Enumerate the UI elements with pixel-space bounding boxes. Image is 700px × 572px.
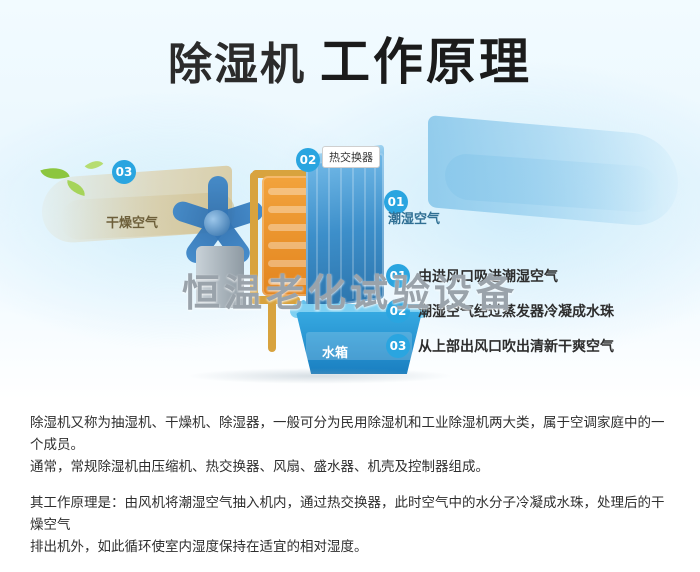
badge-03-illustration: 03: [112, 160, 136, 184]
paragraph-2: 其工作原理是：由风机将潮湿空气抽入机内，通过热交换器，此时空气中的水分子冷凝成水…: [30, 492, 674, 558]
paragraph-1-line-2: 通常，常规除湿机由压缩机、热交换器、风扇、盛水器、机壳及控制器组成。: [30, 456, 674, 478]
step-text: 由进风口吸进潮湿空气: [418, 266, 558, 286]
label-humid-air: 潮湿空气: [388, 208, 440, 227]
illustration-panel: 除湿机工作原理: [0, 0, 700, 400]
body-copy: 除湿机又称为抽湿机、干燥机、除湿器，一般可分为民用除湿机和工业除湿机两大类，属于…: [30, 412, 674, 572]
step-number: 02: [386, 299, 410, 323]
paragraph-1: 除湿机又称为抽湿机、干燥机、除湿器，一般可分为民用除湿机和工业除湿机两大类，属于…: [30, 412, 674, 478]
label-heat-exchanger: 热交换器: [322, 146, 380, 168]
list-item: 01 由进风口吸进潮湿空气: [386, 264, 686, 288]
paragraph-1-line-1: 除湿机又称为抽湿机、干燥机、除湿器，一般可分为民用除湿机和工业除湿机两大类，属于…: [30, 412, 674, 456]
machine-base-shadow: [186, 368, 454, 384]
label-water-tank: 水箱: [322, 342, 348, 361]
page-root: 除湿机工作原理: [0, 0, 700, 566]
steps-list: 01 由进风口吸进潮湿空气 02 潮湿空气经过蒸发器冷凝成水珠 03 从上部出风…: [386, 264, 686, 369]
badge-02-illustration: 02: [296, 148, 320, 172]
title-part-one: 除湿机: [168, 39, 306, 90]
paragraph-2-line-1: 其工作原理是：由风机将潮湿空气抽入机内，通过热交换器，此时空气中的水分子冷凝成水…: [30, 492, 674, 536]
step-text: 潮湿空气经过蒸发器冷凝成水珠: [418, 301, 614, 321]
page-title: 除湿机工作原理: [0, 22, 700, 94]
title-part-two: 工作原理: [320, 32, 532, 91]
fan-hub: [204, 210, 230, 236]
step-number: 03: [386, 334, 410, 358]
step-text: 从上部出风口吹出清新干爽空气: [418, 336, 614, 356]
list-item: 03 从上部出风口吹出清新干爽空气: [386, 334, 686, 358]
refrigerant-pipe: [250, 172, 258, 302]
refrigerant-pipe: [268, 296, 276, 352]
label-dry-air: 干燥空气: [106, 212, 158, 231]
fan-motor: [196, 246, 244, 308]
evaporator-block: [306, 153, 384, 310]
step-number: 01: [386, 264, 410, 288]
list-item: 02 潮湿空气经过蒸发器冷凝成水珠: [386, 299, 686, 323]
paragraph-2-line-2: 排出机外，如此循环使室内湿度保持在适宜的相对湿度。: [30, 536, 674, 558]
